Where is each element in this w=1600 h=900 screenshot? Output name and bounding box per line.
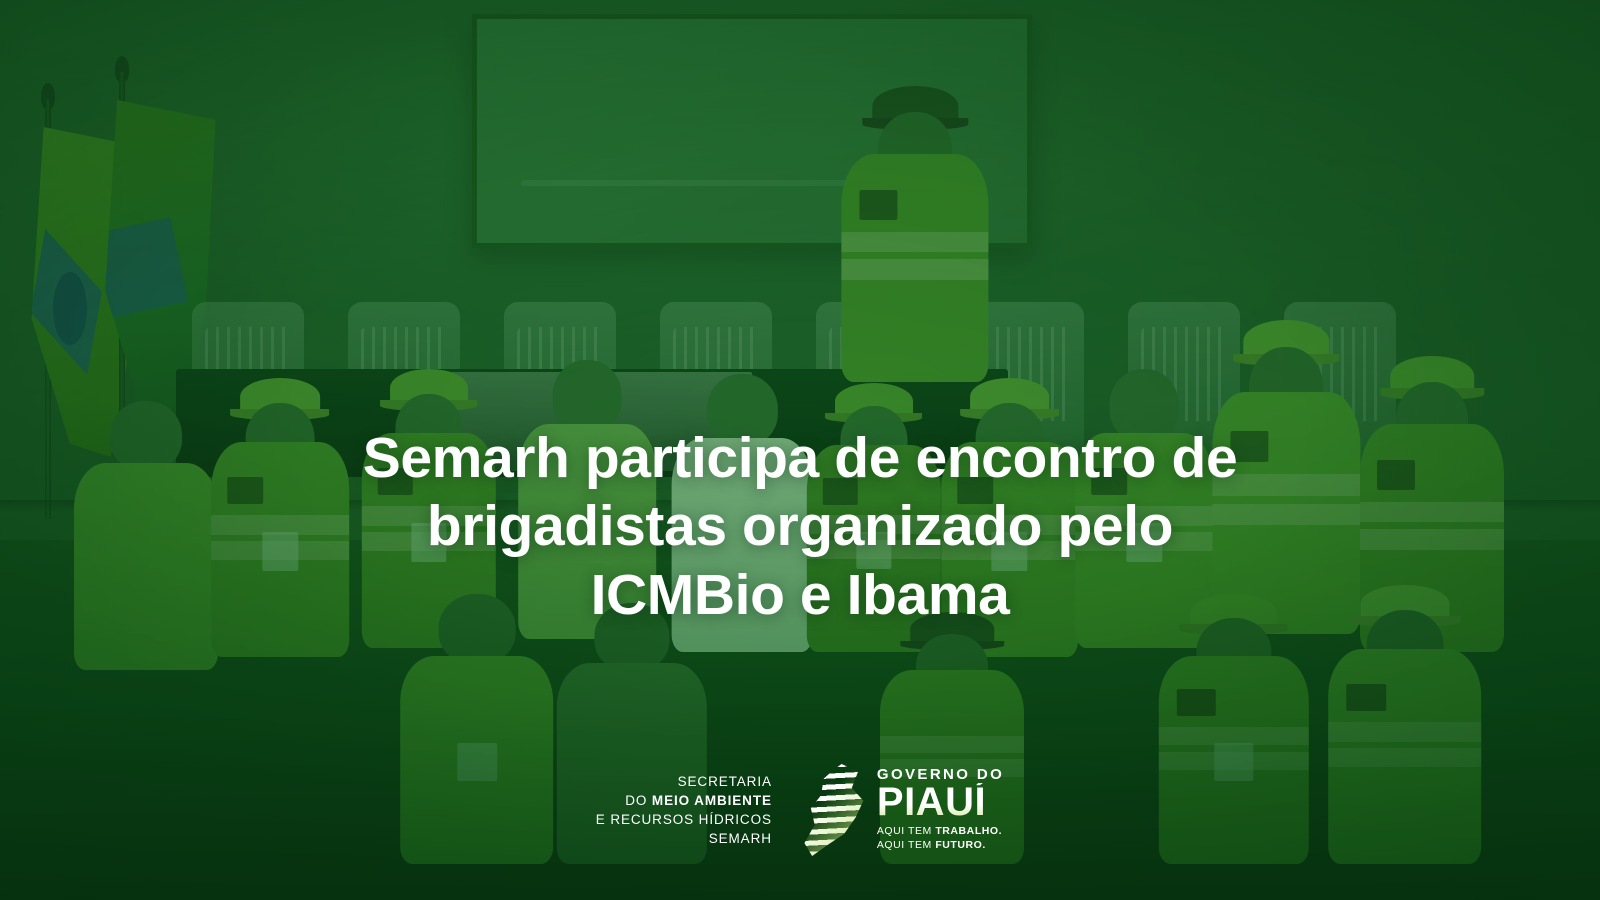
semarh-line-2-prefix: DO: [625, 793, 652, 808]
page-title: Semarh participa de encontro de brigadis…: [330, 424, 1270, 629]
piaui-tagline-line-2: AQUI TEM FUTURO.: [877, 839, 1004, 853]
piaui-wordmark: GOVERNO DO PIAUÍ AQUI TEM TRABALHO. AQUI…: [877, 767, 1004, 852]
semarh-line-1: SECRETARIA: [596, 772, 772, 791]
logo-strip: SECRETARIA DO MEIO AMBIENTE E RECURSOS H…: [596, 764, 1004, 856]
piaui-map-gradient: [802, 764, 866, 856]
semarh-line-4: SEMARH: [596, 829, 772, 848]
tagline-2-prefix: AQUI TEM: [877, 839, 935, 851]
tagline-2-bold: FUTURO.: [935, 839, 986, 851]
piaui-tagline: AQUI TEM TRABALHO. AQUI TEM FUTURO.: [877, 825, 1004, 852]
semarh-line-2-bold: MEIO AMBIENTE: [652, 793, 772, 808]
news-banner: Semarh participa de encontro de brigadis…: [0, 0, 1600, 900]
piaui-logo: GOVERNO DO PIAUÍ AQUI TEM TRABALHO. AQUI…: [802, 764, 1004, 856]
semarh-line-2: DO MEIO AMBIENTE: [596, 791, 772, 810]
tagline-1-bold: TRABALHO.: [935, 825, 1002, 837]
piaui-state-map-icon: [802, 764, 866, 856]
semarh-line-3: E RECURSOS HÍDRICOS: [596, 810, 772, 829]
piaui-state-label: PIAUÍ: [877, 783, 1004, 822]
piaui-tagline-line-1: AQUI TEM TRABALHO.: [877, 825, 1004, 839]
tagline-1-prefix: AQUI TEM: [877, 825, 935, 837]
semarh-logo: SECRETARIA DO MEIO AMBIENTE E RECURSOS H…: [596, 772, 772, 849]
